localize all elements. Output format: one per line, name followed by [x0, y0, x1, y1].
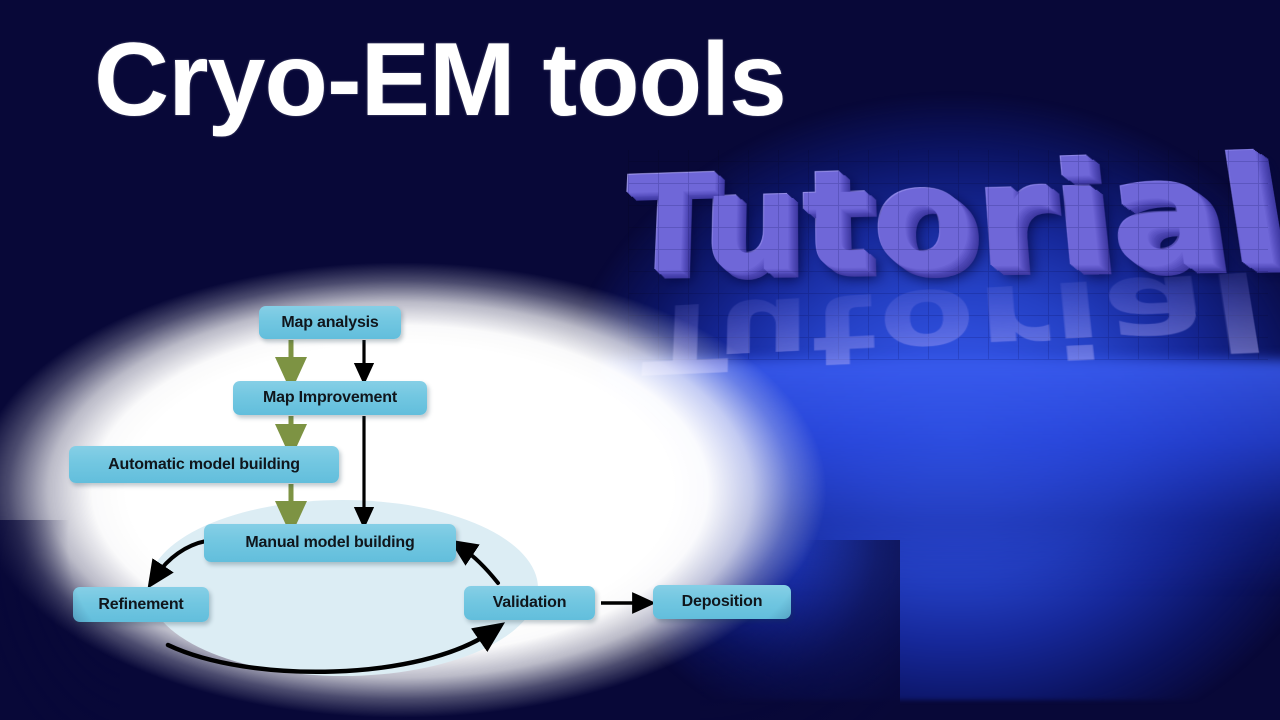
spotlight-fade-left: [0, 520, 120, 720]
node-validation[interactable]: Validation: [464, 586, 595, 620]
node-label: Map analysis: [281, 314, 378, 332]
node-label: Automatic model building: [108, 456, 300, 474]
node-label: Map Improvement: [263, 389, 397, 407]
slide-canvas: Tutorial Tutorial Cryo-EM tools: [0, 0, 1280, 720]
node-manual-model-building[interactable]: Manual model building: [204, 524, 456, 562]
node-map-analysis[interactable]: Map analysis: [259, 306, 401, 339]
node-label: Manual model building: [245, 534, 414, 552]
node-label: Validation: [493, 594, 567, 612]
flowchart: Map analysis Map Improvement Automatic m…: [0, 0, 1280, 720]
node-map-improvement[interactable]: Map Improvement: [233, 381, 427, 415]
spotlight-fade-right: [700, 540, 900, 720]
node-automatic-model-building[interactable]: Automatic model building: [69, 446, 339, 483]
